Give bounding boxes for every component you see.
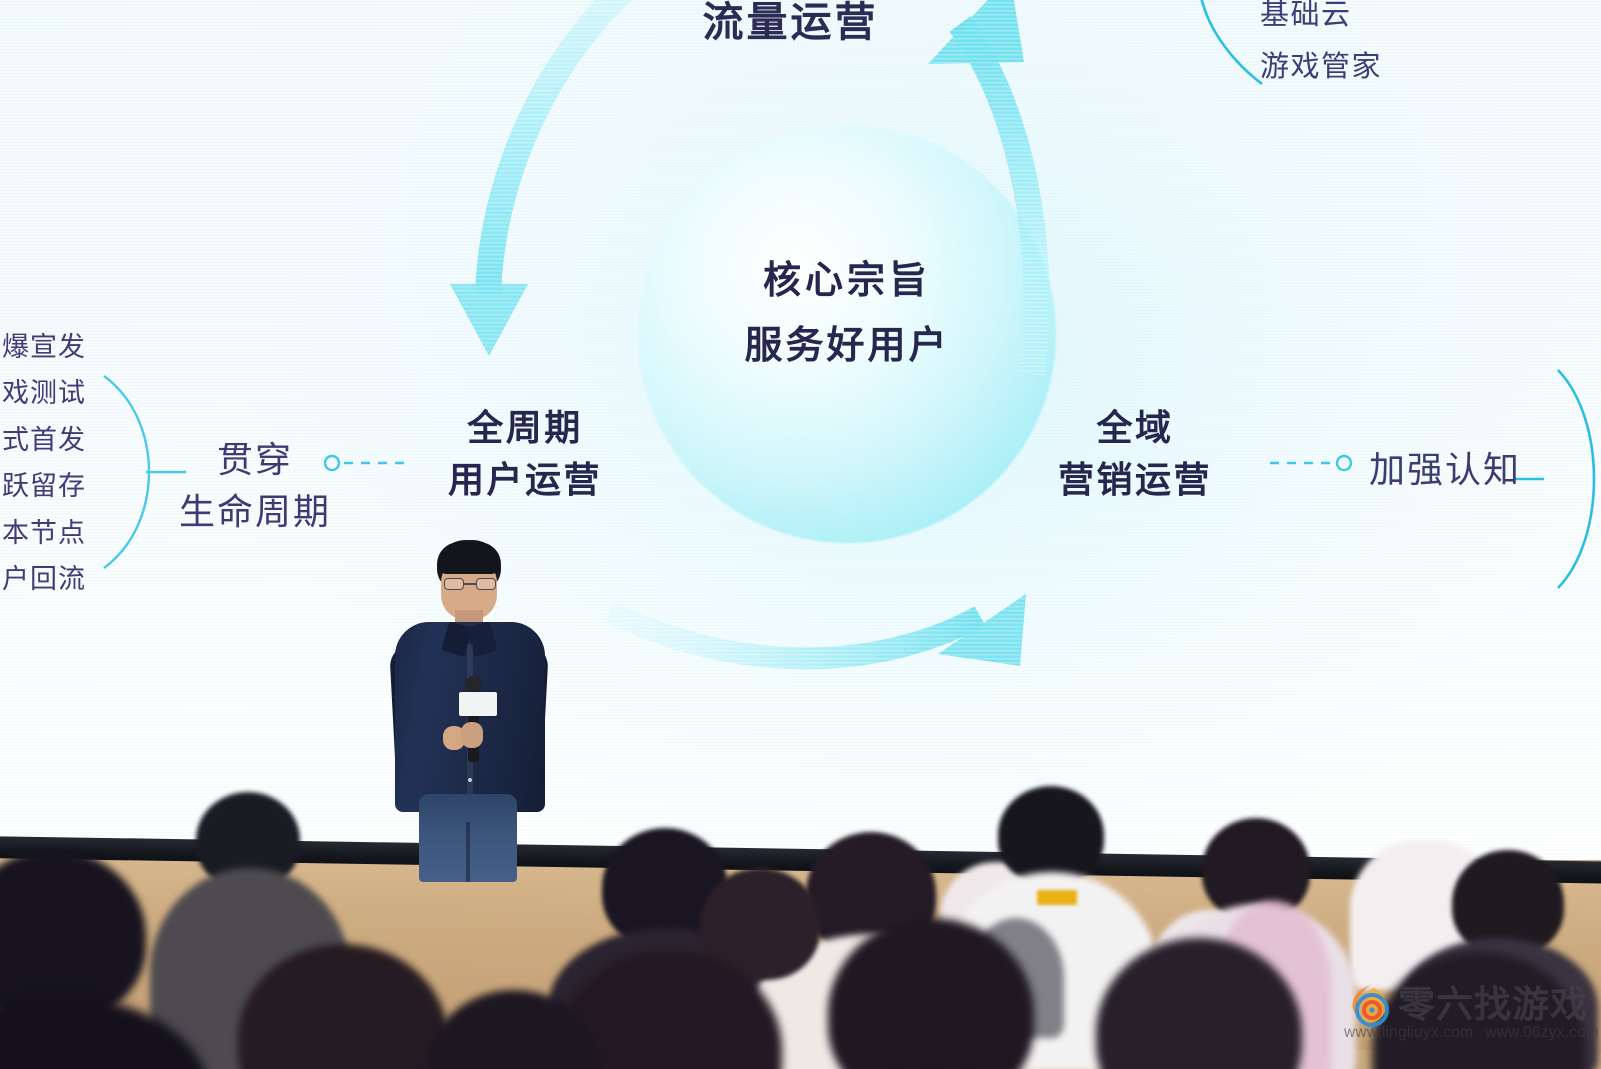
phase-item: 版本节点 [0,510,94,556]
audience-name-badge [1037,890,1077,905]
phase-item: 游戏测试 [0,370,94,416]
speaker-glasses-icon [444,578,496,590]
pillar-right-line-2: 营销运营 [1000,454,1270,506]
watermark-title: 零六找游戏 [1398,974,1588,1028]
microphone-head-icon [465,676,482,693]
conference-photo: 流量运营 核心宗旨 服务好用户 全周期 用户运营 全域 营销运营 贯穿 生命周期 [0,0,1601,1069]
top-title-text: 流量运营 [703,0,879,45]
phase-item: 正式首发 [0,417,94,463]
label-lifecycle-coverage: 贯穿 生命周期 [140,434,370,538]
awareness-line-1: 加强认知 [1320,444,1570,496]
watermark-url-left: www.lingliuyx.com [1344,1024,1473,1042]
core-purpose-label: 核心宗旨 服务好用户 [638,256,1056,373]
phase-item: 用户回流 [0,556,94,602]
pillar-full-cycle-user-ops: 全周期 用户运营 [390,402,660,506]
audience-head [998,786,1104,884]
lifecycle-line-1: 贯穿 [140,434,370,486]
cloud-list-item: 基础云 [1260,0,1490,42]
watermark: 零六找游戏 www.lingliuyx.com www.06zyx.com [1338,968,1601,1068]
speaker-hair-front [437,542,501,574]
cloud-list-item: 游戏管家 [1260,42,1490,94]
pillar-left-line-1: 全周期 [390,402,660,454]
watermark-urls: www.lingliuyx.com www.06zyx.com [1344,1024,1599,1042]
pillar-left-line-2: 用户运营 [390,454,660,506]
label-strengthen-awareness: 加强认知 [1320,444,1570,496]
pillar-full-domain-marketing-ops: 全域 营销运营 [1000,402,1270,506]
watermark-url-right: www.06zyx.com [1485,1024,1599,1042]
cloud-service-list: 基础云 游戏管家 [1260,0,1490,93]
lifecycle-line-2: 生命周期 [140,486,370,538]
phase-item: 首爆宣发 [0,324,94,370]
phase-item: 活跃留存 [0,463,94,509]
pillar-right-line-1: 全域 [1000,402,1270,454]
core-line-1: 核心宗旨 [638,256,1056,307]
phase-list: 首爆宣发 游戏测试 正式首发 活跃留存 版本节点 用户回流 [0,324,94,603]
core-line-2: 服务好用户 [638,321,1056,372]
